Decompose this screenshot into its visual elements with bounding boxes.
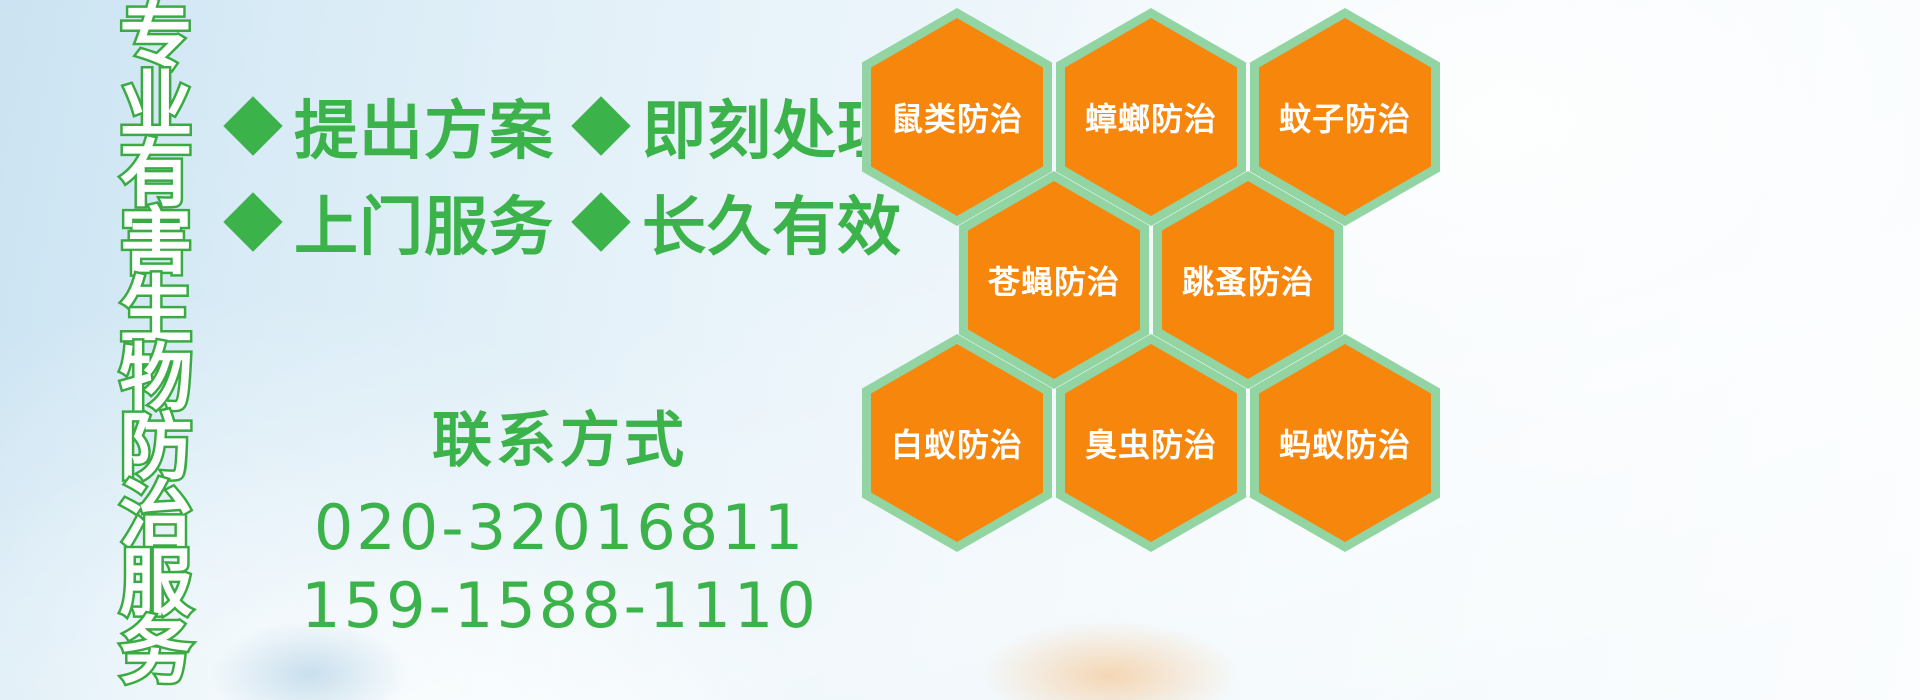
- vertical-slogan-char: 生: [120, 277, 193, 345]
- vertical-slogan-char: 务: [120, 618, 193, 686]
- feature-row: 上门服务 长久有效: [232, 174, 872, 270]
- background-blur-blob-center: [980, 620, 1240, 700]
- hex-inner: 臭虫防治: [1065, 344, 1237, 542]
- diamond-icon: [571, 192, 630, 251]
- diamond-icon: [223, 96, 282, 155]
- hex-label: 鼠类防治: [891, 94, 1023, 140]
- contact-phone-landline[interactable]: 020-32016811: [300, 489, 820, 567]
- hex-label: 蟑螂防治: [1085, 94, 1217, 140]
- service-honeycomb: 鼠类防治 蟑螂防治 蚊子防治 苍蝇防治 跳蚤防治 白蚁防治: [862, 2, 1442, 548]
- feature-label: 上门服务: [294, 176, 554, 268]
- feature-list: 提出方案 即刻处理 上门服务 长久有效: [232, 78, 872, 270]
- vertical-slogan-char: 物: [120, 345, 193, 413]
- vertical-slogan-char: 业: [120, 72, 193, 140]
- diamond-icon: [223, 192, 282, 251]
- feature-item-long-lasting-effect: 长久有效: [580, 176, 902, 268]
- hex-inner: 蚂蚁防治: [1259, 344, 1431, 542]
- vertical-slogan-char: 害: [120, 209, 193, 277]
- diamond-icon: [571, 96, 630, 155]
- feature-item-immediate-handling: 即刻处理: [580, 80, 902, 172]
- hex-label: 苍蝇防治: [988, 257, 1120, 303]
- hex-inner: 鼠类防治: [871, 18, 1043, 216]
- contact-phone-mobile[interactable]: 159-1588-1110: [300, 567, 820, 645]
- feature-label: 提出方案: [294, 80, 554, 172]
- hex-label: 蚂蚁防治: [1279, 420, 1411, 466]
- hex-label: 蚊子防治: [1279, 94, 1411, 140]
- contact-title: 联系方式: [300, 392, 820, 479]
- vertical-slogan-char: 治: [120, 482, 193, 550]
- hex-label: 跳蚤防治: [1182, 257, 1314, 303]
- vertical-slogan-char: 服: [120, 550, 193, 618]
- feature-item-door-to-door-service: 上门服务: [232, 176, 554, 268]
- vertical-slogan: 专 业 有 害 生 物 防 治 服 务: [108, 4, 204, 680]
- hex-label: 白蚁防治: [891, 420, 1023, 466]
- feature-item-propose-plan: 提出方案: [232, 80, 554, 172]
- hex-inner: 苍蝇防治: [968, 181, 1140, 379]
- hex-inner: 白蚁防治: [871, 344, 1043, 542]
- pest-control-banner: 专 业 有 害 生 物 防 治 服 务 提出方案 即刻处理 上门服务: [0, 0, 1920, 700]
- hex-inner: 蚊子防治: [1259, 18, 1431, 216]
- vertical-slogan-char: 防: [120, 414, 193, 482]
- vertical-slogan-char: 有: [120, 141, 193, 209]
- hex-inner: 蟑螂防治: [1065, 18, 1237, 216]
- vertical-slogan-char: 专: [120, 4, 193, 72]
- feature-row: 提出方案 即刻处理: [232, 78, 872, 174]
- contact-block: 联系方式 020-32016811 159-1588-1110: [300, 392, 820, 645]
- hex-label: 臭虫防治: [1085, 420, 1217, 466]
- hex-inner: 跳蚤防治: [1162, 181, 1334, 379]
